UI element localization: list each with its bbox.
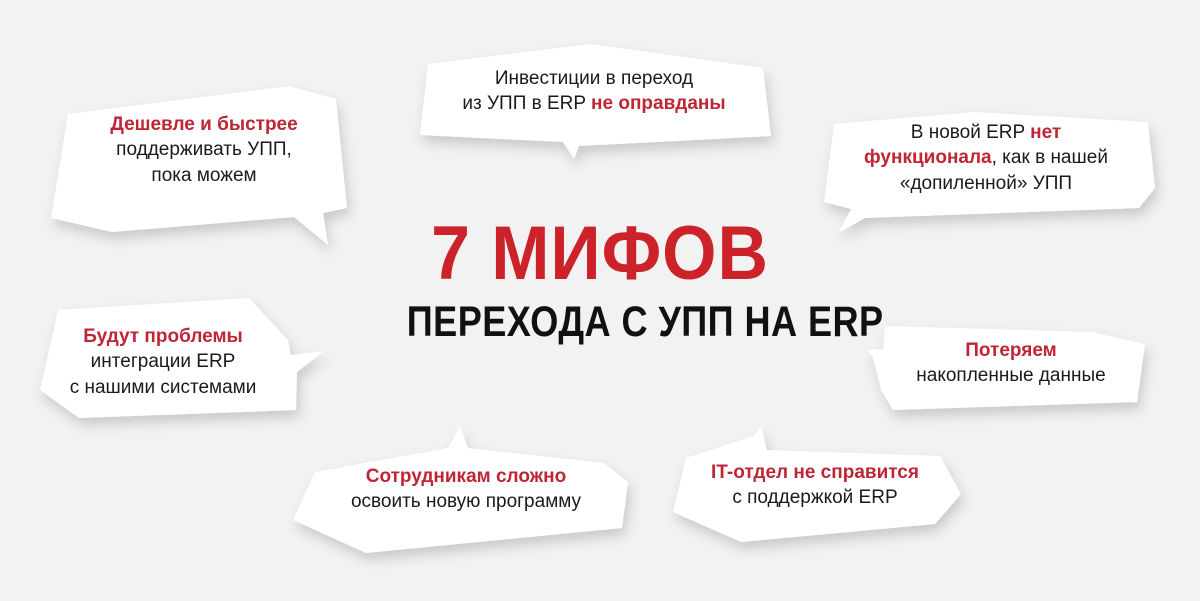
myth-text-cheaper-faster: Дешевле и быстрее поддерживать УПП, пока… [54, 112, 354, 188]
myth-bubble-integration[interactable]: Будут проблемы интеграции ERP с нашими с… [28, 292, 328, 432]
myth-bubble-no-functionality[interactable]: В новой ERP нет функционала, как в нашей… [812, 98, 1160, 248]
myth-line-mixed: из УПП в ERP не оправданы [428, 91, 760, 116]
myth-line-plain: накопленные данные [884, 363, 1138, 388]
myth-bubble-lose-data[interactable]: Потеряем накопленные данные [862, 312, 1162, 424]
myth-line-accent-part: нет [1030, 122, 1061, 143]
myth-line-plain: «допиленной» УПП [826, 171, 1146, 196]
poster-title-main: 7 МИФОВ [388, 218, 811, 289]
myth-line-plain-part: , как в нашей [992, 147, 1108, 168]
myth-bubble-investments[interactable]: Инвестиции в переход из УПП в ERP не опр… [408, 42, 780, 172]
infographic-poster: Дешевле и быстрее поддерживать УПП, пока… [0, 0, 1200, 601]
myth-line-accent-part: функционала [864, 147, 992, 168]
myth-line-accent-part: не оправданы [591, 93, 726, 114]
myth-text-lose-data: Потеряем накопленные данные [884, 338, 1138, 389]
myth-line-plain: интеграции ERP [38, 349, 288, 374]
myth-text-integration: Будут проблемы интеграции ERP с нашими с… [38, 324, 288, 400]
myth-line-accent: Сотрудникам сложно [304, 464, 628, 489]
myth-line-plain: поддерживать УПП, [54, 137, 354, 162]
myth-line-accent: Потеряем [884, 338, 1138, 363]
myth-text-investments: Инвестиции в переход из УПП в ERP не опр… [428, 66, 760, 117]
poster-title-block: 7 МИФОВ ПЕРЕХОДА С УПП НА ERP [370, 218, 830, 344]
myth-line-accent: Будут проблемы [38, 324, 288, 349]
myth-line-accent: IT-отдел не справится [678, 460, 952, 485]
myth-line-plain: Инвестиции в переход [428, 66, 760, 91]
myth-line-mixed: В новой ERP нет [826, 120, 1146, 145]
myth-line-plain-part: из УПП в ERP [462, 93, 591, 114]
myth-line-mixed: функционала, как в нашей [826, 145, 1146, 170]
myth-line-plain-part: В новой ERP [911, 122, 1030, 143]
myth-text-no-functionality: В новой ERP нет функционала, как в нашей… [826, 120, 1146, 196]
myth-line-plain: пока можем [54, 163, 354, 188]
myth-bubble-staff[interactable]: Сотрудникам сложно освоить новую програм… [288, 424, 652, 570]
myth-text-staff: Сотрудникам сложно освоить новую програм… [304, 464, 628, 515]
myth-line-plain: освоить новую программу [304, 489, 628, 514]
myth-line-plain: с поддержкой ERP [678, 485, 952, 510]
poster-title-sub: ПЕРЕХОДА С УПП НА ERP [407, 301, 793, 344]
myth-line-accent: Дешевле и быстрее [54, 112, 354, 137]
myth-bubble-it-dept[interactable]: IT-отдел не справится с поддержкой ERP [664, 424, 974, 564]
myth-line-plain: с нашими системами [38, 375, 288, 400]
myth-text-it-dept: IT-отдел не справится с поддержкой ERP [678, 460, 952, 511]
myth-bubble-cheaper-faster[interactable]: Дешевле и быстрее поддерживать УПП, пока… [36, 72, 376, 252]
